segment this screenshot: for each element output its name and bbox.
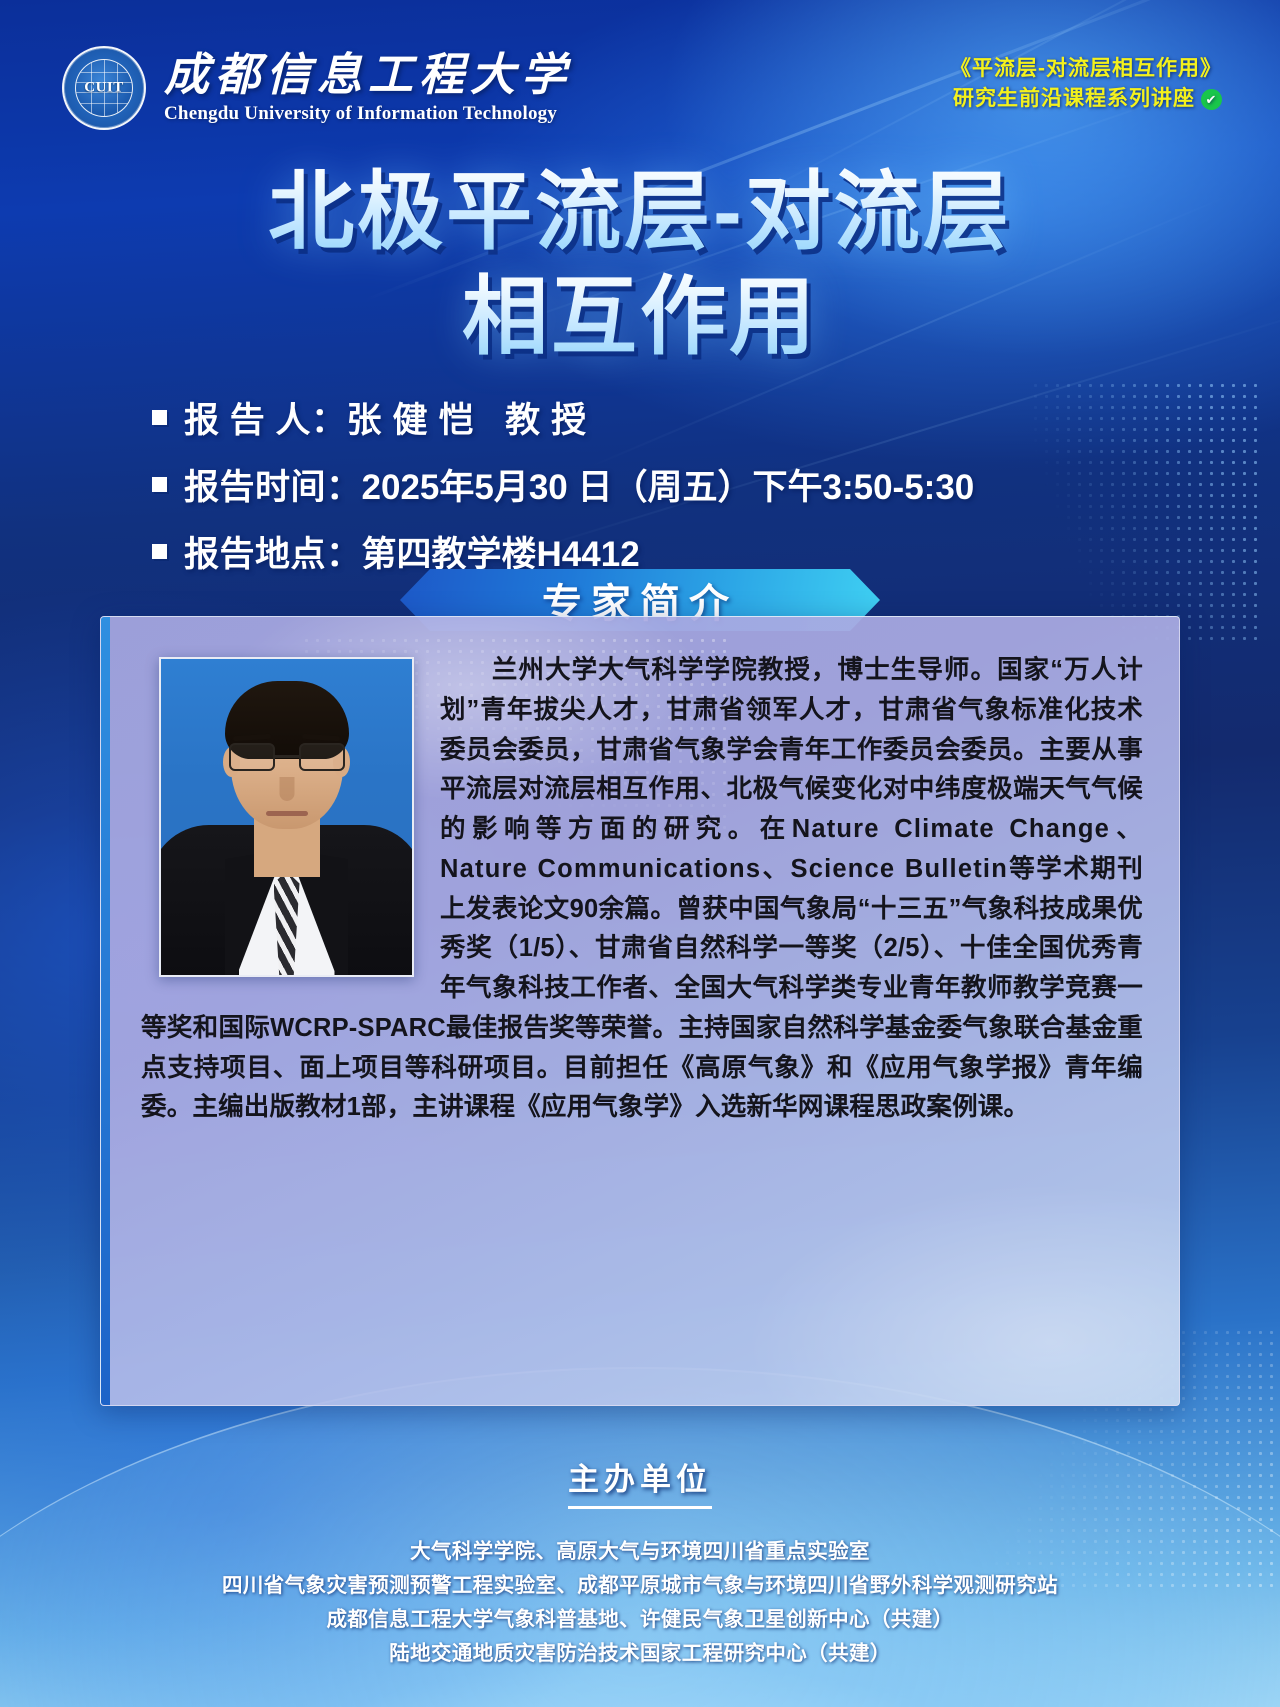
event-info-list: 报 告 人： 张健恺 教授 报告时间： 2025年5月30 日（周五）下午3:5… <box>152 392 1202 593</box>
university-name-cn: 成都信息工程大学 <box>164 51 572 98</box>
bullet-square-icon <box>152 544 167 559</box>
page-title: 北极平流层-对流层 相互作用 <box>0 160 1280 370</box>
info-label-time: 报告时间： <box>184 459 362 510</box>
bullet-square-icon <box>152 477 167 492</box>
sponsor-line: 成都信息工程大学气象科普基地、许健民气象卫星创新中心（共建） <box>0 1603 1280 1637</box>
speaker-photo <box>159 657 414 977</box>
series-line-2-wrap: 研究生前沿课程系列讲座✔ <box>950 84 1222 114</box>
speaker-bio-card: 兰州大学大气科学学院教授，博士生导师。国家“万人计划”青年拔尖人才，甘肃省领军人… <box>100 616 1180 1406</box>
sponsors-section: 主办单位 大气科学学院、高原大气与环境四川省重点实验室 四川省气象灾害预测预警工… <box>0 1454 1280 1671</box>
poster-header: CUIT 成都信息工程大学 Chengdu University of Info… <box>0 0 1280 150</box>
info-row-speaker: 报 告 人： 张健恺 教授 <box>152 392 1202 443</box>
university-logo: CUIT 成都信息工程大学 Chengdu University of Info… <box>62 46 572 130</box>
info-label-speaker: 报 告 人： <box>184 392 346 443</box>
sponsor-line: 四川省气象灾害预测预警工程实验室、成都平原城市气象与环境四川省野外科学观测研究站 <box>0 1569 1280 1603</box>
info-row-time: 报告时间： 2025年5月30 日（周五）下午3:50-5:30 <box>152 459 1202 510</box>
bullet-square-icon <box>152 410 167 425</box>
series-label: 《平流层-对流层相互作用》 研究生前沿课程系列讲座✔ <box>950 54 1222 114</box>
sponsor-line: 大气科学学院、高原大气与环境四川省重点实验室 <box>0 1535 1280 1569</box>
poster-root: CUIT 成都信息工程大学 Chengdu University of Info… <box>0 0 1280 1707</box>
sponsor-line: 陆地交通地质灾害防治技术国家工程研究中心（共建） <box>0 1637 1280 1671</box>
title-line-2: 相互作用 <box>0 265 1280 370</box>
title-line-1: 北极平流层-对流层 <box>0 160 1280 265</box>
check-badge-icon: ✔ <box>1201 89 1222 110</box>
series-line-2: 研究生前沿课程系列讲座 <box>953 87 1195 110</box>
university-name-en: Chengdu University of Information Techno… <box>164 103 572 125</box>
info-value-speaker: 张健恺 教授 <box>346 392 597 443</box>
info-value-time: 2025年5月30 日（周五）下午3:50-5:30 <box>362 459 975 510</box>
university-seal-icon: CUIT <box>62 46 146 130</box>
seal-acronym: CUIT <box>64 80 144 97</box>
series-line-1: 《平流层-对流层相互作用》 <box>950 54 1222 84</box>
sponsors-title: 主办单位 <box>568 1454 712 1509</box>
